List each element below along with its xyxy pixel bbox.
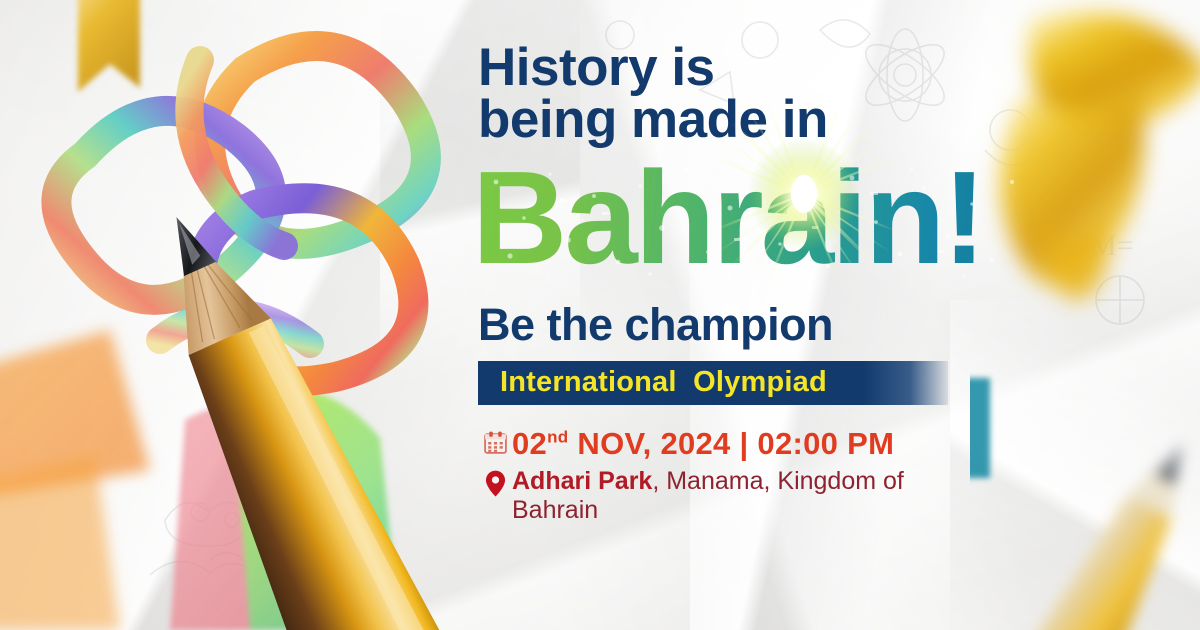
calendar-icon — [478, 427, 512, 455]
content-column: History is being made in Bahrain! — [478, 42, 1058, 532]
subheadline: Be the champion — [478, 302, 1058, 347]
date-row: 02nd NOV, 2024 | 02:00 PM — [478, 427, 1058, 461]
event-meta: 02nd NOV, 2024 | 02:00 PM Adhari Park, M… — [478, 427, 1058, 526]
headline-line-2: being made in — [478, 94, 1058, 146]
map-pin-icon — [478, 467, 512, 497]
event-name-banner: International Olympiad — [478, 361, 948, 405]
location-row: Adhari Park, Manama, Kingdom of Bahrain — [478, 467, 1058, 526]
hero-word-wrap: Bahrain! — [472, 152, 1058, 292]
event-name-label: International Olympiad — [478, 366, 827, 399]
headline-line-1: History is — [478, 38, 715, 97]
event-date-time: 02nd NOV, 2024 | 02:00 PM — [512, 427, 894, 461]
date-rest: NOV, 2024 | 02:00 PM — [568, 426, 894, 461]
left-artwork — [0, 0, 480, 630]
venue-name: Adhari Park — [512, 467, 652, 495]
page-title: History is being made in — [478, 42, 1058, 146]
svg-text:M=: M= — [1090, 229, 1134, 262]
event-location: Adhari Park, Manama, Kingdom of Bahrain — [512, 467, 942, 526]
date-ordinal: nd — [547, 428, 568, 447]
hero-word-bahrain: Bahrain! — [472, 152, 983, 284]
date-day: 02 — [512, 426, 547, 461]
event-promo-banner: M= E — [0, 0, 1200, 630]
svg-text:E: E — [1100, 161, 1117, 192]
